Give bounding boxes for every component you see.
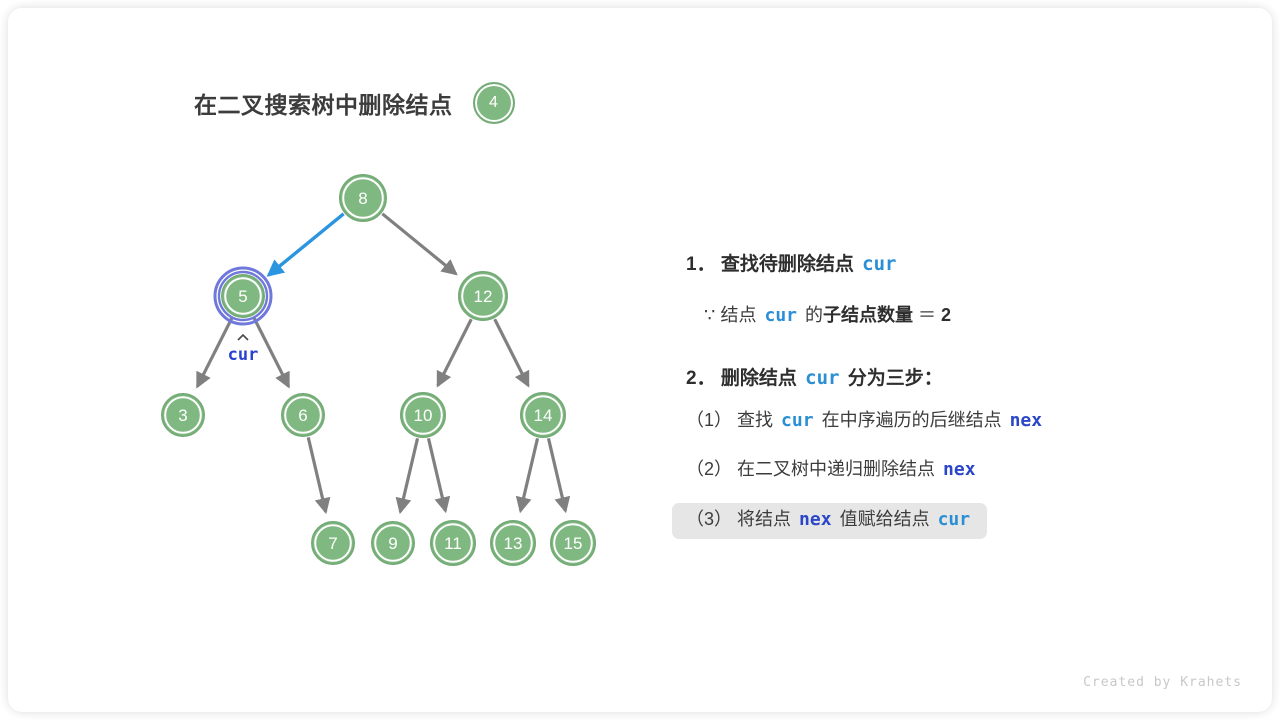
- node-value-label: 12: [474, 287, 493, 306]
- pointer-label-cur: cur: [228, 345, 259, 365]
- substep-row-1[interactable]: （1） 查找 cur 在中序遍历的后继结点 nex: [672, 404, 1059, 440]
- node-value-label: 14: [534, 406, 553, 425]
- reason-equals: ＝: [918, 305, 936, 325]
- tree-node-14[interactable]: 14: [521, 393, 565, 437]
- tree-node-6[interactable]: 6: [282, 394, 324, 436]
- tree-edge-n8-n5: [269, 214, 344, 275]
- tree-edge-n5-n6: [253, 317, 288, 387]
- tree-node-11[interactable]: 11: [431, 521, 475, 565]
- tree-node-5[interactable]: 5: [215, 268, 271, 324]
- node-value-label: 3: [178, 406, 187, 425]
- tree-node-7[interactable]: 7: [312, 522, 354, 564]
- substep-var-cur: cur: [778, 410, 817, 431]
- reason-var-cur: cur: [761, 305, 800, 326]
- step-2-suffix: 分为三步：: [848, 368, 943, 389]
- substep-text-pre: 在二叉树中递归删除结点: [737, 459, 935, 479]
- node-value-label: 7: [328, 534, 337, 553]
- step-1-text: 1． 查找待删除结点: [686, 254, 854, 275]
- node-value-label: 8: [358, 189, 367, 208]
- substep-index: （3）: [686, 509, 732, 529]
- binary-search-tree-diagram: cur 851236101479111315: [8, 8, 668, 628]
- footer-credit: Created by Krahets: [1083, 675, 1242, 690]
- step-1-heading: 1． 查找待删除结点 cur: [686, 254, 1246, 276]
- substep-text-mid: 在中序遍历的后继结点: [822, 410, 1002, 430]
- tree-node-15[interactable]: 15: [551, 521, 595, 565]
- tree-node-9[interactable]: 9: [372, 522, 414, 564]
- step-2-text: 2． 删除结点: [686, 368, 797, 389]
- node-value-label: 15: [564, 534, 583, 553]
- pointer-caret-icon: [238, 335, 248, 340]
- because-symbol: ∵: [704, 305, 715, 325]
- tree-edge-n10-n11: [428, 438, 445, 511]
- explanation-panel: 1． 查找待删除结点 cur ∵ 结点 cur 的子结点数量 ＝ 2 2． 删除…: [686, 254, 1246, 539]
- substep-text-pre: 将结点: [737, 509, 791, 529]
- node-value-label: 11: [444, 534, 462, 553]
- substep-var-nex: nex: [796, 509, 835, 530]
- substep-index: （1）: [686, 410, 732, 430]
- reason-value: 2: [941, 305, 951, 325]
- node-value-label: 13: [504, 534, 523, 553]
- reason-line: ∵ 结点 cur 的子结点数量 ＝ 2: [686, 306, 1246, 326]
- tree-node-12[interactable]: 12: [459, 272, 507, 320]
- reason-bold: 子结点数量: [823, 305, 913, 325]
- substep-var-nex: nex: [1007, 410, 1046, 431]
- tree-node-13[interactable]: 13: [491, 521, 535, 565]
- substep-text-pre: 查找: [737, 410, 773, 430]
- tree-edge-n12-n10: [438, 319, 471, 385]
- tree-node-10[interactable]: 10: [401, 393, 445, 437]
- tree-edge-n8-n12: [382, 214, 456, 274]
- cur-pointer-annotation: cur: [228, 335, 259, 365]
- tree-edge-n14-n13: [521, 438, 538, 511]
- substep-var-nex: nex: [940, 459, 979, 480]
- reason-mid: 的: [805, 305, 823, 325]
- substep-row-2[interactable]: （2） 在二叉树中递归删除结点 nex: [672, 453, 993, 489]
- tree-nodes: 851236101479111315: [162, 175, 595, 565]
- slide-card: 在二叉搜索树中删除结点 4 cur 851236101479111315 1． …: [8, 8, 1272, 712]
- substep-text-mid: 值赋给结点: [840, 509, 930, 529]
- step-2-heading: 2． 删除结点 cur 分为三步：: [686, 368, 1246, 390]
- substep-index: （2）: [686, 459, 732, 479]
- tree-edge-n6-n7: [308, 437, 325, 511]
- tree-edge-n10-n9: [400, 438, 417, 511]
- step-2-var-cur: cur: [802, 367, 842, 389]
- substep-var-cur: cur: [935, 509, 974, 530]
- tree-node-8[interactable]: 8: [340, 175, 386, 221]
- step-1-var-cur: cur: [859, 253, 899, 275]
- tree-node-3[interactable]: 3: [162, 394, 204, 436]
- substep-row-3[interactable]: （3） 将结点 nex 值赋给结点 cur: [672, 503, 987, 539]
- node-value-label: 6: [298, 406, 307, 425]
- substep-list: （1） 查找 cur 在中序遍历的后继结点 nex （2） 在二叉树中递归删除结…: [686, 390, 1246, 539]
- tree-edge-n12-n14: [495, 319, 528, 385]
- node-value-label: 10: [414, 406, 433, 425]
- reason-pre: 结点: [720, 305, 756, 325]
- node-value-label: 9: [388, 534, 397, 553]
- node-value-label: 5: [238, 287, 247, 306]
- tree-edge-n14-n15: [548, 438, 565, 511]
